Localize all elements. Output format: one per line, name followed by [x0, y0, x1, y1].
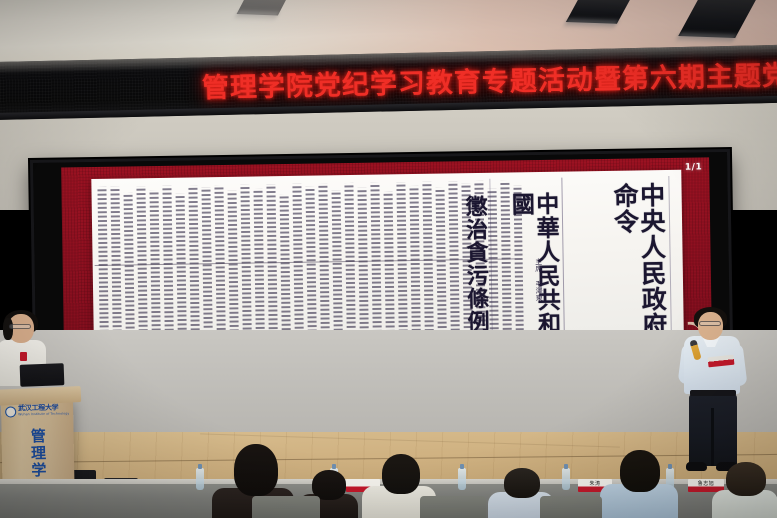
slide-number-indicator: 1/1	[685, 162, 702, 172]
document-signature: 主席 毛澤東	[534, 258, 543, 301]
audience-head	[234, 444, 278, 496]
lecture-hall-scene: 管理学院党纪学习教育专题活动暨第六期主题党日观摩活动 1/1	[0, 0, 777, 518]
document-title-main: 中央人民政府命令	[610, 182, 666, 343]
audience-chair	[420, 496, 486, 518]
presenter-head	[698, 312, 723, 340]
university-logo: 武汉工程大学 Wuhan Institute of Technology	[5, 403, 69, 418]
presenter-leg-gap	[711, 408, 714, 466]
presenter-glasses-icon	[699, 321, 721, 326]
audience-head	[504, 468, 540, 498]
water-bottle	[562, 468, 570, 490]
operator-glasses-icon	[9, 324, 31, 329]
audience-head	[726, 462, 766, 496]
audience-head	[620, 450, 660, 492]
audience-chair	[252, 496, 320, 518]
university-name-en: Wuhan Institute of Technology	[18, 413, 69, 417]
presenter-shoe-left	[686, 462, 707, 471]
water-bottle	[196, 468, 204, 490]
operator-badge	[20, 352, 27, 361]
water-bottle	[458, 468, 466, 490]
audience-head	[382, 454, 420, 494]
audience-chair	[540, 496, 602, 518]
presenter-belt	[690, 390, 736, 396]
operator-hair-side	[3, 318, 13, 340]
university-seal-icon	[5, 406, 16, 417]
laptop	[20, 363, 65, 387]
document-title-sub2: 懲治貪污條例	[462, 195, 488, 341]
